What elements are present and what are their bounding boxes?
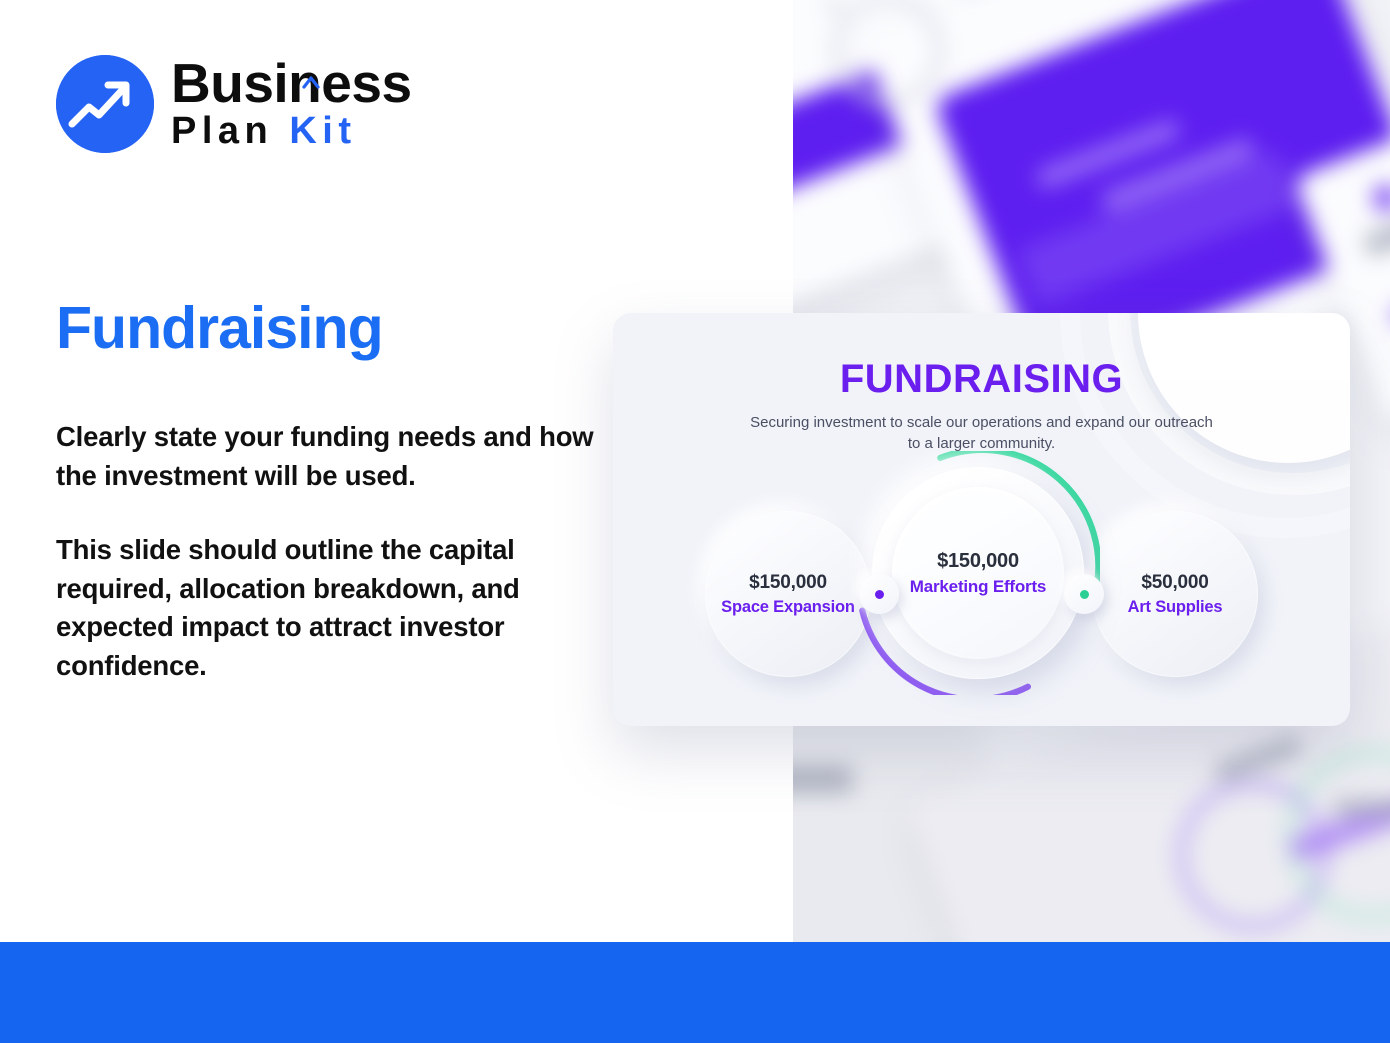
purple-dot-icon — [875, 590, 884, 599]
brand-wordmark: Business Plan Kit — [171, 55, 412, 152]
allocation-label: Space Expansion — [721, 598, 855, 617]
allocation-item-marketing-efforts[interactable]: $150,000 Marketing Efforts — [872, 467, 1084, 679]
brand-name-line1-text: Business — [171, 52, 412, 114]
allocation-amount: $150,000 — [937, 550, 1019, 573]
allocation-item-art-supplies[interactable]: $50,000 Art Supplies — [1092, 511, 1258, 677]
brand-name-kit: Kit — [289, 110, 356, 152]
connector-node-left — [859, 574, 899, 614]
brand-name-plan: Plan — [171, 110, 273, 152]
growth-arrow-circle-icon — [56, 55, 154, 153]
brand-name-line1: Business — [171, 57, 412, 109]
allocation-label: Marketing Efforts — [910, 577, 1046, 597]
footer-bar — [0, 942, 1390, 1043]
card-subtitle: Securing investment to scale our operati… — [747, 413, 1217, 454]
teal-dot-icon — [1080, 590, 1089, 599]
fundraising-allocation-chart: $150,000 Space Expansion $150,000 Market… — [613, 463, 1350, 725]
allocation-amount: $150,000 — [749, 572, 827, 594]
brand-name-line2: Plan Kit — [171, 111, 412, 153]
allocation-amount: $50,000 — [1141, 572, 1208, 594]
allocation-item-space-expansion[interactable]: $150,000 Space Expansion — [705, 511, 871, 677]
caret-accent-icon — [302, 44, 320, 58]
center-circle-inner — [892, 487, 1064, 659]
description-paragraph-2: This slide should outline the capital re… — [56, 531, 616, 685]
connector-node-right — [1064, 574, 1104, 614]
description-paragraph-1: Clearly state your funding needs and how… — [56, 418, 616, 495]
slide-page: Business Plan Kit Fundraising Clearly st… — [0, 0, 1390, 1043]
fundraising-slide-card[interactable]: FUNDRAISING Securing investment to scale… — [613, 313, 1350, 726]
page-title: Fundraising — [56, 297, 383, 361]
card-title: FUNDRAISING — [613, 357, 1350, 402]
brand-logo: Business Plan Kit — [56, 55, 412, 153]
allocation-label: Art Supplies — [1128, 598, 1223, 617]
description-block: Clearly state your funding needs and how… — [56, 418, 616, 685]
